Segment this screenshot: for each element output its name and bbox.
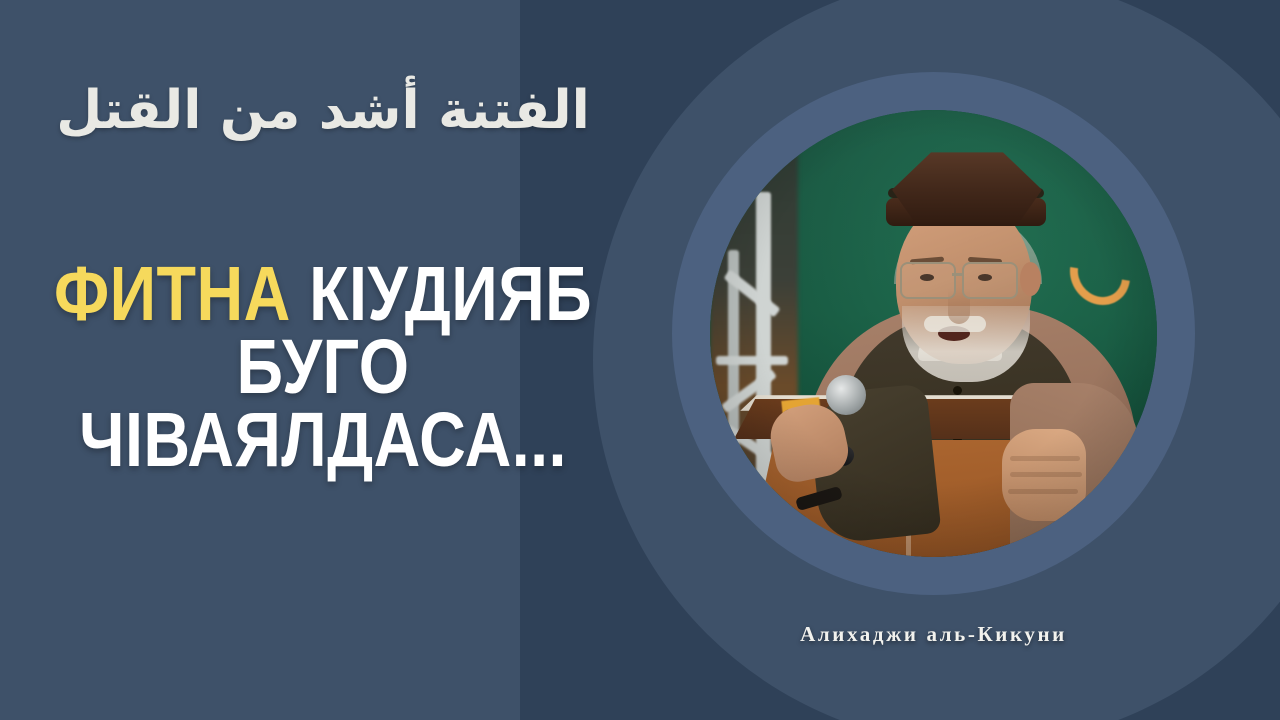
- speaker-ear: [1020, 262, 1041, 296]
- hand-finger: [1008, 489, 1078, 494]
- speaker-portrait: [710, 110, 1157, 557]
- eyeglasses-icon: [900, 262, 956, 299]
- scaffold-pipe-icon: [716, 356, 788, 365]
- text-column: الفتنة أشد من القتل ФИТНА КIУДИЯБ БУГО Ч…: [0, 0, 646, 720]
- hand-finger: [1010, 456, 1080, 461]
- vest-button: [953, 386, 962, 395]
- speaker-name-caption: Алихаджи аль-Кикуни: [672, 622, 1195, 647]
- arabic-hadith-text: الفتنة أشد من القتل: [0, 83, 646, 139]
- microphone-icon: [826, 375, 866, 415]
- main-title: ФИТНА КIУДИЯБ БУГО ЧIВАЯЛДАСА...: [52, 258, 595, 477]
- eyeglasses-icon: [962, 262, 1018, 299]
- title-line-2: БУГО: [52, 331, 595, 404]
- eyeglasses-bridge: [952, 273, 964, 276]
- title-line-3: ЧIВАЯЛДАСА...: [52, 404, 595, 477]
- hand-finger: [1010, 472, 1082, 477]
- scaffold-pipe-icon: [728, 250, 739, 520]
- thumbnail-canvas: الفتنة أشد من القتل ФИТНА КIУДИЯБ БУГО Ч…: [0, 0, 1280, 720]
- portrait-illustration: [710, 110, 1157, 557]
- title-line-1: ФИТНА КIУДИЯБ: [52, 258, 595, 331]
